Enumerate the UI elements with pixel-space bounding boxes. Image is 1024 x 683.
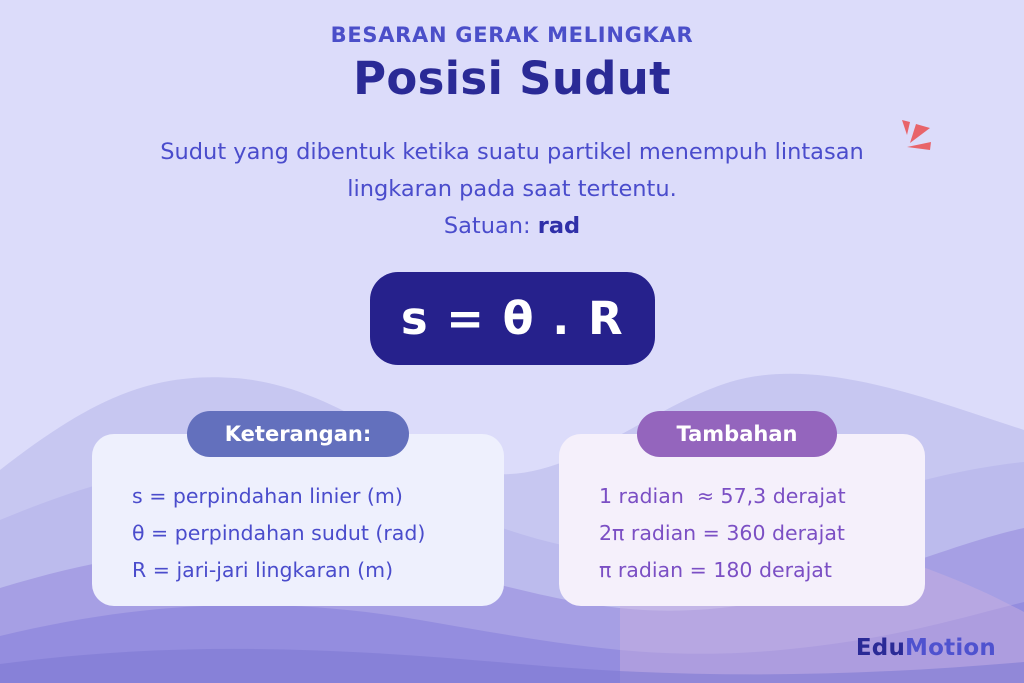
tambahan-card: 1 radian ≈ 57,3 derajat 2π radian = 360 …	[559, 434, 925, 606]
tambahan-line-2: 2π radian = 360 derajat	[599, 515, 925, 552]
slide-canvas: BESARAN GERAK MELINGKAR Posisi Sudut Sud…	[0, 0, 1024, 683]
keterangan-line-3: R = jari-jari lingkaran (m)	[132, 552, 504, 589]
eyebrow-text: BESARAN GERAK MELINGKAR	[0, 24, 1024, 47]
page-title: Posisi Sudut	[0, 53, 1024, 105]
brand-logo-part-1: Edu	[856, 635, 905, 661]
keterangan-line-2: θ = perpindahan sudut (rad)	[132, 515, 504, 552]
tambahan-line-1: 1 radian ≈ 57,3 derajat	[599, 478, 925, 515]
unit-value: rad	[538, 213, 580, 239]
brand-logo: EduMotion	[856, 635, 996, 661]
header: BESARAN GERAK MELINGKAR Posisi Sudut	[0, 24, 1024, 105]
description-line-1: Sudut yang dibentuk ketika suatu partike…	[92, 134, 932, 171]
tambahan-line-3: π radian = 180 derajat	[599, 552, 925, 589]
tambahan-card-body: 1 radian ≈ 57,3 derajat 2π radian = 360 …	[559, 434, 925, 589]
description-block: Sudut yang dibentuk ketika suatu partike…	[92, 134, 932, 245]
description-line-2: lingkaran pada saat tertentu.	[92, 171, 932, 208]
brand-logo-part-2: Motion	[905, 635, 996, 661]
keterangan-card-body: s = perpindahan linier (m) θ = perpindah…	[92, 434, 504, 589]
unit-label: Satuan:	[444, 213, 531, 239]
keterangan-line-1: s = perpindahan linier (m)	[132, 478, 504, 515]
keterangan-card: s = perpindahan linier (m) θ = perpindah…	[92, 434, 504, 606]
sparkle-icon	[896, 116, 942, 158]
formula-box: s = θ . R	[370, 272, 655, 365]
unit-line: Satuan: rad	[92, 208, 932, 245]
tambahan-badge: Tambahan	[637, 411, 837, 457]
formula-text: s = θ . R	[401, 296, 624, 341]
keterangan-badge: Keterangan:	[187, 411, 409, 457]
